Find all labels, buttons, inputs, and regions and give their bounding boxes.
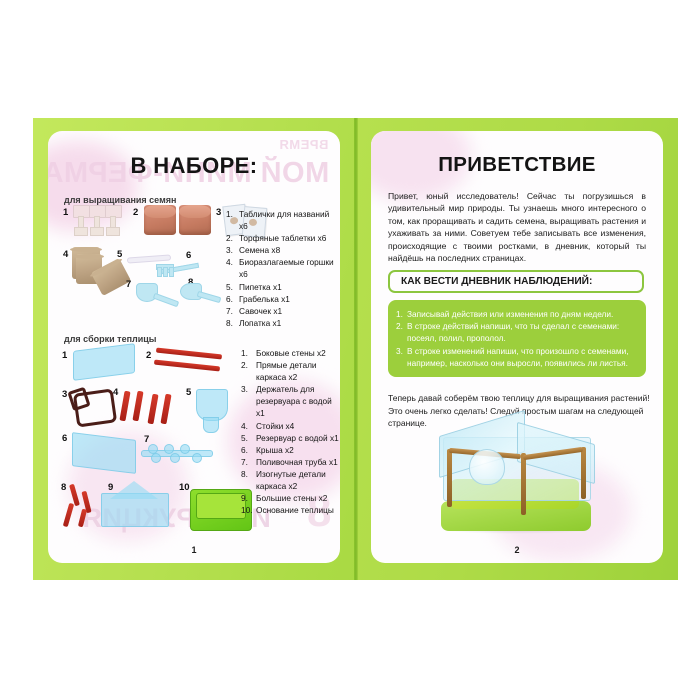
- item-number: 2.: [226, 232, 239, 244]
- callout-part-2: 2: [146, 350, 151, 361]
- pipette-icon: [127, 254, 171, 263]
- assembled-greenhouse-photo: [425, 427, 615, 545]
- callout-part-6: 6: [62, 433, 67, 444]
- spade-handle-icon: [197, 291, 222, 303]
- item-number: 5.: [241, 432, 256, 444]
- item-number: 3.: [241, 383, 256, 419]
- watering-pipe-nozzle-icon: [170, 453, 180, 463]
- diary-rules-box: 1.Записывай действия или изменения по дн…: [388, 300, 646, 377]
- list-item: 2.В строке действий напиши, что ты сдела…: [396, 320, 636, 344]
- intro-paragraph: Привет, юный исследователь! Сейчас ты по…: [388, 190, 646, 264]
- list-item: 7.Поливочная труба x1: [241, 456, 340, 468]
- item-number: 5.: [226, 281, 239, 293]
- callout-seed-6: 6: [186, 250, 191, 261]
- list-item: 5.Пипетка x1: [226, 281, 338, 293]
- name-tag-foot: [74, 227, 88, 236]
- right-page-sheet: ПРИВЕТСТВИЕ Привет, юный исследователь! …: [371, 131, 663, 563]
- greenhouse-water-tank: [469, 449, 505, 485]
- item-number: 9.: [241, 492, 256, 504]
- item-text: В строке действий напиши, что ты сделал …: [407, 320, 636, 344]
- item-number: 3.: [226, 244, 239, 256]
- seeds-items-list: 1.Таблички для названий x6 2.Торфяные та…: [226, 208, 338, 329]
- side-wall-part-icon: [73, 343, 135, 381]
- list-item: 5.Резервуар с водой x1: [241, 432, 340, 444]
- booklet-spine: [354, 118, 358, 580]
- list-item: 2.Прямые детали каркаса x2: [241, 359, 340, 383]
- item-text: Семена x8: [239, 244, 338, 256]
- right-page-number: 2: [371, 545, 663, 555]
- item-text: Савочек x1: [239, 305, 338, 317]
- item-number: 2.: [241, 359, 256, 383]
- item-number: 1.: [396, 308, 407, 320]
- left-page-sheet: ВРЕМЯ МОЙ МИНИ-ФЕРМА ИНСТРУКЦИЯ 8 В НАБО…: [48, 131, 340, 563]
- callout-seed-4: 4: [63, 249, 68, 260]
- list-item: 1.Записывай действия или изменения по дн…: [396, 308, 636, 320]
- item-number: 2.: [396, 320, 407, 344]
- left-page-number: 1: [48, 545, 340, 555]
- support-post-icon: [132, 391, 143, 422]
- item-text: В строке изменений напиши, что произошло…: [407, 345, 636, 369]
- booklet-right-page: ПРИВЕТСТВИЕ Привет, юный исследователь! …: [355, 118, 678, 580]
- curved-frame-part-icon: [78, 509, 87, 528]
- support-post-icon: [147, 394, 158, 425]
- callout-seed-2: 2: [133, 207, 138, 218]
- callout-part-7: 7: [144, 434, 149, 445]
- item-number: 8.: [241, 468, 256, 492]
- watermark-corner-text: ВРЕМЯ: [279, 137, 328, 152]
- straight-frame-part-icon: [156, 348, 222, 360]
- callout-part-10: 10: [179, 482, 190, 493]
- rake-tooth-icon: [157, 267, 162, 277]
- trowel-handle-icon: [153, 293, 179, 308]
- item-text: Стойки x4: [256, 420, 340, 432]
- peat-tablet-icon: [144, 205, 176, 235]
- item-text: Прямые детали каркаса x2: [256, 359, 340, 383]
- large-wall-gable-icon: [110, 481, 158, 499]
- support-post-icon: [119, 391, 130, 422]
- list-item: 7.Савочек x1: [226, 305, 338, 317]
- item-number: 4.: [226, 256, 239, 280]
- list-item: 3.В строке изменений напиши, что произош…: [396, 345, 636, 369]
- seeds-section-label: для выращивания семян: [64, 195, 176, 205]
- list-item: 6.Грабелька x1: [226, 293, 338, 305]
- watering-pipe-nozzle-icon: [151, 453, 161, 463]
- straight-frame-part-icon: [154, 360, 220, 372]
- list-item: 3.Семена x8: [226, 244, 338, 256]
- left-page-title: В НАБОРЕ:: [48, 153, 340, 179]
- item-text: Лопатка x1: [239, 317, 338, 329]
- item-text: Большие стены x2: [256, 492, 340, 504]
- item-text: Резервуар с водой x1: [256, 432, 340, 444]
- list-item: 4.Биоразлагаемые горшки x6: [226, 256, 338, 280]
- outro-line-1: Теперь давай соберём твою теплицу для вы…: [388, 392, 650, 405]
- callout-seed-3: 3: [216, 207, 221, 218]
- item-text: Пипетка x1: [239, 281, 338, 293]
- greenhouse-post: [581, 447, 586, 499]
- greenhouse-base-inner-icon: [196, 493, 246, 519]
- item-number: 6.: [241, 444, 256, 456]
- list-item: 10.Основание теплицы: [241, 504, 340, 516]
- list-item: 1.Таблички для названий x6: [226, 208, 338, 232]
- item-text: Биоразлагаемые горшки x6: [239, 256, 338, 280]
- item-text: Грабелька x1: [239, 293, 338, 305]
- callout-part-3: 3: [62, 389, 67, 400]
- item-number: 7.: [241, 456, 256, 468]
- item-number: 1.: [226, 208, 239, 232]
- item-text: Крыша x2: [256, 444, 340, 456]
- callout-seed-7: 7: [126, 279, 131, 290]
- item-number: 1.: [241, 347, 256, 359]
- item-text: Изогнутые детали каркаса x2: [256, 468, 340, 492]
- support-post-icon: [160, 394, 171, 425]
- list-item: 6.Крыша x2: [241, 444, 340, 456]
- callout-part-9: 9: [108, 482, 113, 493]
- water-tank-spout-icon: [203, 417, 219, 433]
- callout-part-8: 8: [61, 482, 66, 493]
- list-item: 8.Лопатка x1: [226, 317, 338, 329]
- callout-seed-1: 1: [63, 207, 68, 218]
- item-number: 4.: [241, 420, 256, 432]
- right-page-title: ПРИВЕТСТВИЕ: [371, 153, 663, 177]
- name-tag-foot: [90, 227, 104, 236]
- item-number: 8.: [226, 317, 239, 329]
- callout-part-4: 4: [113, 387, 118, 398]
- item-text: Таблички для названий x6: [239, 208, 338, 232]
- rake-tooth-icon: [169, 267, 174, 277]
- parts-section-label: для сборки теплицы: [64, 334, 156, 344]
- item-number: 7.: [226, 305, 239, 317]
- list-item: 1.Боковые стены x2: [241, 347, 340, 359]
- screenshot-root: ВРЕМЯ МОЙ МИНИ-ФЕРМА ИНСТРУКЦИЯ 8 В НАБО…: [0, 0, 700, 700]
- watering-pipe-nozzle-icon: [192, 453, 202, 463]
- peat-tablet-icon: [179, 205, 211, 235]
- list-item: 3.Держатель для резервуара с водой x1: [241, 383, 340, 419]
- item-text: Торфяные таблетки x6: [239, 232, 338, 244]
- greenhouse-post: [447, 449, 452, 507]
- list-item: 4.Стойки x4: [241, 420, 340, 432]
- instruction-booklet: ВРЕМЯ МОЙ МИНИ-ФЕРМА ИНСТРУКЦИЯ 8 В НАБО…: [33, 118, 678, 580]
- callout-part-1: 1: [62, 350, 67, 361]
- item-text: Держатель для резервуара с водой x1: [256, 383, 340, 419]
- list-item: 9.Большие стены x2: [241, 492, 340, 504]
- item-number: 6.: [226, 293, 239, 305]
- callout-part-5: 5: [186, 387, 191, 398]
- parts-items-list: 1.Боковые стены x2 2.Прямые детали карка…: [241, 347, 340, 516]
- list-item: 8.Изогнутые детали каркаса x2: [241, 468, 340, 492]
- curved-frame-part-icon: [63, 503, 74, 527]
- diary-heading-box: КАК ВЕСТИ ДНЕВНИК НАБЛЮДЕНИЙ:: [388, 270, 644, 293]
- item-number: 10.: [241, 504, 256, 516]
- item-text: Основание теплицы: [256, 504, 340, 516]
- diary-heading-text: КАК ВЕСТИ ДНЕВНИК НАБЛЮДЕНИЙ:: [401, 276, 592, 287]
- item-text: Боковые стены x2: [256, 347, 340, 359]
- list-item: 2.Торфяные таблетки x6: [226, 232, 338, 244]
- item-text: Поливочная труба x1: [256, 456, 340, 468]
- callout-seed-5: 5: [117, 249, 122, 260]
- booklet-left-page: ВРЕМЯ МОЙ МИНИ-ФЕРМА ИНСТРУКЦИЯ 8 В НАБО…: [33, 118, 355, 580]
- watering-pipe-nozzle-icon: [180, 444, 190, 454]
- item-text: Записывай действия или изменения по дням…: [407, 308, 636, 320]
- roof-part-icon: [72, 432, 136, 474]
- name-tag-foot: [106, 227, 120, 236]
- item-number: 3.: [396, 345, 407, 369]
- rake-tooth-icon: [163, 267, 168, 277]
- greenhouse-post: [521, 453, 526, 515]
